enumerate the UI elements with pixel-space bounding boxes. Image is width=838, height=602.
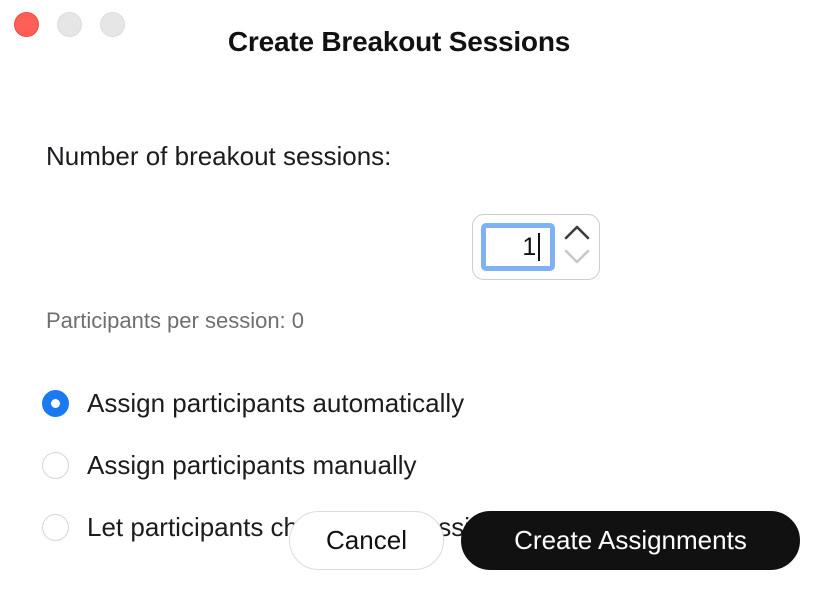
radio-label-manual: Assign participants manually bbox=[87, 450, 417, 481]
chevron-up-icon[interactable] bbox=[563, 224, 591, 246]
page-title: Create Breakout Sessions bbox=[0, 26, 838, 58]
radio-label-automatic: Assign participants automatically bbox=[87, 388, 464, 419]
dialog-footer: Cancel Create Assignments bbox=[0, 511, 838, 571]
window-titlebar: Create Breakout Sessions bbox=[0, 0, 838, 88]
stepper-arrows[interactable] bbox=[561, 221, 593, 273]
sessions-row: Number of breakout sessions: bbox=[46, 124, 391, 188]
dialog-window: Create Breakout Sessions Number of break… bbox=[0, 0, 838, 602]
radio-option-automatic[interactable]: Assign participants automatically bbox=[42, 372, 742, 434]
sessions-label: Number of breakout sessions: bbox=[46, 141, 391, 172]
radio-option-manual[interactable]: Assign participants manually bbox=[42, 434, 742, 496]
radio-icon-automatic[interactable] bbox=[42, 390, 69, 417]
text-caret bbox=[538, 233, 540, 261]
sessions-stepper[interactable]: 1 bbox=[472, 214, 600, 280]
participants-per-session-note: Participants per session: 0 bbox=[46, 308, 304, 334]
create-assignments-button[interactable]: Create Assignments bbox=[461, 511, 800, 570]
radio-icon-manual[interactable] bbox=[42, 452, 69, 479]
sessions-input-value: 1 bbox=[522, 235, 536, 260]
chevron-down-icon[interactable] bbox=[563, 248, 591, 270]
cancel-button[interactable]: Cancel bbox=[289, 511, 444, 570]
sessions-input[interactable]: 1 bbox=[481, 223, 555, 271]
